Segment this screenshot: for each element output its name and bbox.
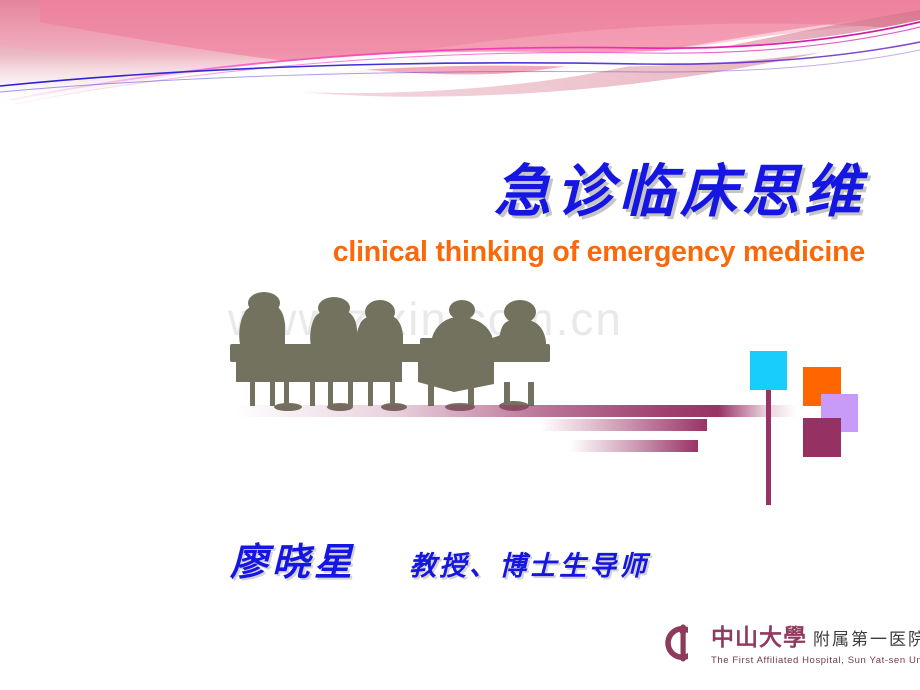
vertical-accent-line — [766, 374, 771, 505]
logo-english-name: The First Affiliated Hospital, Sun Yat-s… — [711, 655, 920, 666]
horizontal-accent-bar-middle — [540, 419, 707, 431]
hospital-logo: 中山大學 附属第一医院 The First Affiliated Hospita… — [662, 618, 914, 676]
sun-yat-sen-university-logo-icon — [662, 622, 704, 664]
logo-university-name: 中山大學 — [711, 618, 807, 652]
slide-title-english: clinical thinking of emergency medicine — [0, 236, 865, 269]
horizontal-accent-bar-lower — [570, 440, 698, 452]
decorative-square-maroon — [803, 418, 841, 457]
presenter-block: 廖晓星 教授、博士生导师 — [230, 531, 750, 586]
horizontal-accent-bar-long — [234, 405, 797, 417]
people-meeting-silhouette-image — [222, 286, 552, 412]
logo-hospital-name: 附属第一医院 — [813, 625, 920, 650]
presenter-title: 教授、博士生导师 — [409, 551, 649, 582]
decorative-square-cyan — [750, 351, 787, 390]
presenter-name: 廖晓星 — [230, 539, 356, 584]
slide-title-chinese: 急诊临床思维 — [0, 163, 866, 221]
presentation-slide: www.zixin.com.cn — [0, 0, 920, 690]
top-wave-decoration — [0, 0, 920, 118]
